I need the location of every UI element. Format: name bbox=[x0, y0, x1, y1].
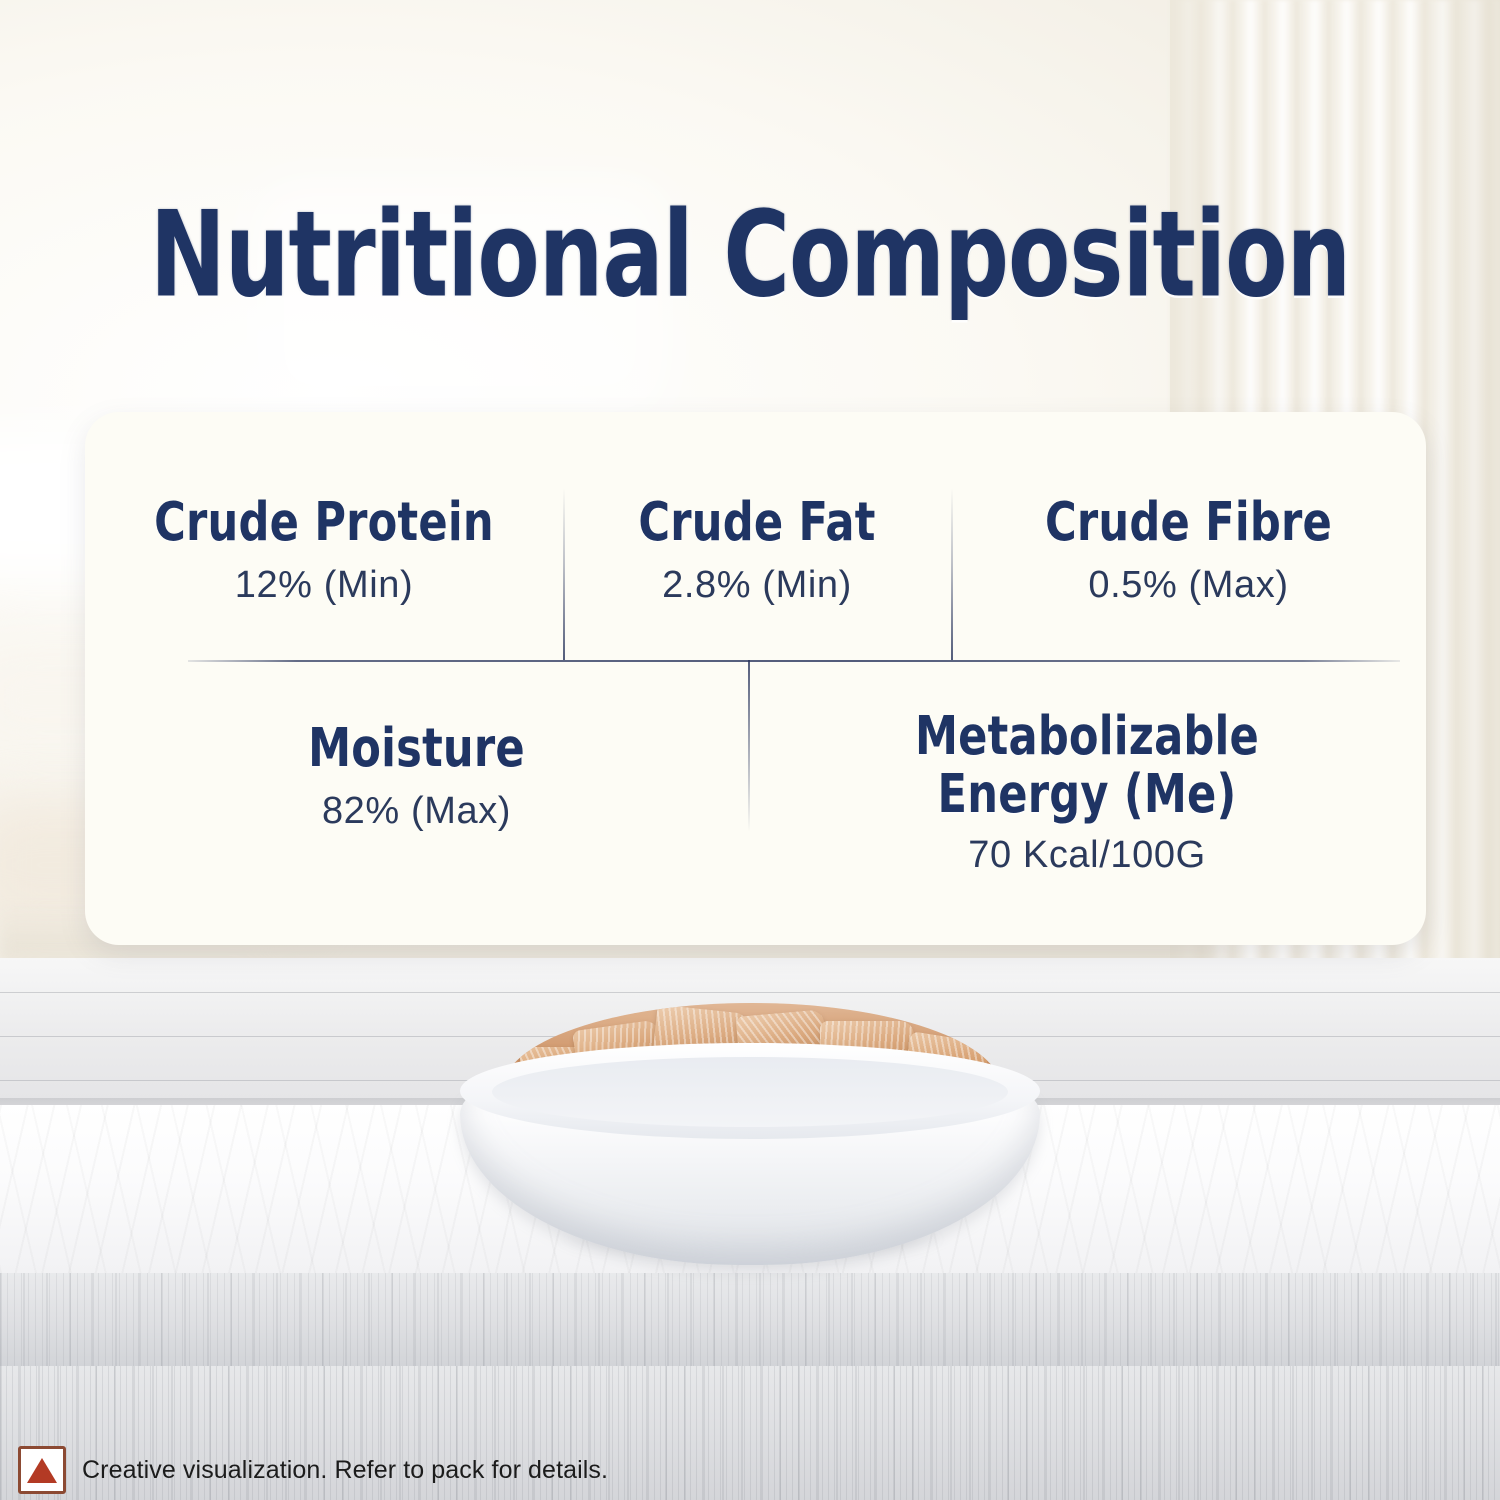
product-bowl bbox=[440, 995, 1060, 1285]
nutrient-value: 2.8% (Min) bbox=[662, 564, 852, 607]
nutrient-label: Crude Protein bbox=[154, 494, 494, 552]
nutrient-cell-moisture: Moisture 82% (Max) bbox=[85, 660, 748, 945]
nutrient-value: 82% (Max) bbox=[322, 790, 511, 833]
nutrient-label: Metabolizable Energy (Me) bbox=[915, 708, 1259, 824]
bowl-inner-wall bbox=[492, 1057, 1008, 1127]
nutrition-row-bottom: Moisture 82% (Max) Metabolizable Energy … bbox=[85, 660, 1426, 945]
nutrition-card: Crude Protein 12% (Min) Crude Fat 2.8% (… bbox=[85, 412, 1426, 945]
column-divider-3 bbox=[748, 660, 750, 832]
warning-triangle-icon bbox=[18, 1446, 66, 1494]
nutrient-label: Crude Fat bbox=[638, 494, 875, 552]
nutrient-value: 0.5% (Max) bbox=[1088, 564, 1288, 607]
page-title: Nutritional Composition bbox=[23, 193, 1478, 316]
disclaimer-footer: Creative visualization. Refer to pack fo… bbox=[18, 1446, 608, 1494]
nutrient-cell-crude-fibre: Crude Fibre 0.5% (Max) bbox=[951, 412, 1426, 660]
nutrient-value: 70 Kcal/100G bbox=[968, 834, 1205, 877]
disclaimer-text: Creative visualization. Refer to pack fo… bbox=[82, 1456, 608, 1485]
nutrient-label: Moisture bbox=[308, 720, 525, 778]
nutrition-row-top: Crude Protein 12% (Min) Crude Fat 2.8% (… bbox=[85, 412, 1426, 660]
nutrient-label: Crude Fibre bbox=[1045, 494, 1332, 552]
row-divider bbox=[188, 660, 1400, 662]
nutrient-cell-metabolizable-energy: Metabolizable Energy (Me) 70 Kcal/100G bbox=[748, 660, 1426, 945]
column-divider-1 bbox=[563, 488, 565, 660]
column-divider-2 bbox=[951, 488, 953, 660]
counter-edge-band bbox=[0, 1273, 1500, 1366]
nutrient-cell-crude-fat: Crude Fat 2.8% (Min) bbox=[563, 412, 951, 660]
nutrient-value: 12% (Min) bbox=[235, 564, 414, 607]
nutrient-cell-crude-protein: Crude Protein 12% (Min) bbox=[85, 412, 563, 660]
